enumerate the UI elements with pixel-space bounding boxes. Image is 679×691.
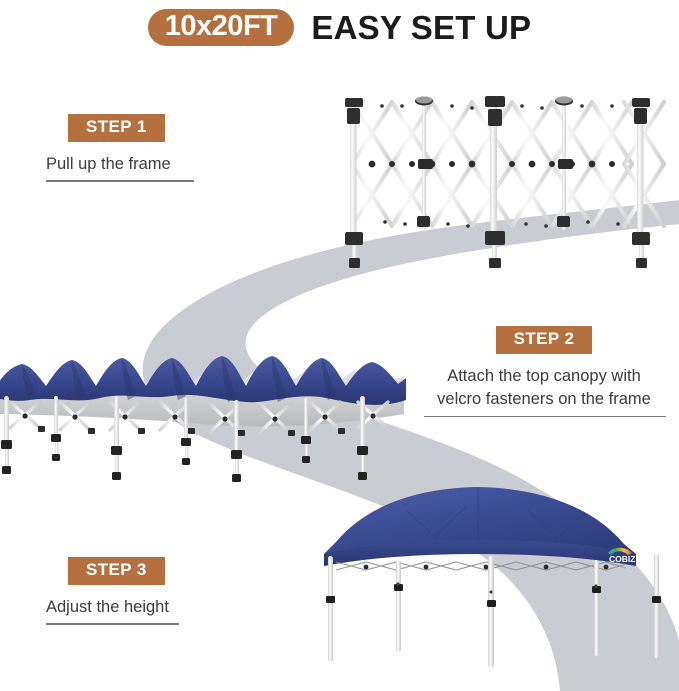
page-title: EASY SET UP bbox=[311, 11, 531, 44]
step-3-badge: STEP 3 bbox=[68, 557, 165, 585]
step-2-badge: STEP 2 bbox=[496, 326, 593, 354]
canopy-partially-assembled-illustration bbox=[0, 352, 408, 482]
step-2-description: Attach the top canopy with velcro fasten… bbox=[420, 365, 668, 412]
step-1-underline bbox=[46, 180, 194, 182]
setup-instructions-page: 10x20FT EASY SET UP STEP 1 Pull up the f… bbox=[0, 0, 679, 691]
page-header: 10x20FT EASY SET UP bbox=[0, 4, 679, 50]
step-3-description: Adjust the height bbox=[46, 596, 179, 619]
step-2-underline bbox=[424, 416, 666, 418]
brand-logo: COBIZI bbox=[608, 548, 638, 564]
folded-frame-illustration bbox=[330, 88, 674, 278]
step-1-badge: STEP 1 bbox=[68, 114, 165, 142]
size-badge: 10x20FT bbox=[148, 9, 295, 46]
step-1-block: STEP 1 Pull up the frame bbox=[46, 114, 194, 182]
step-3-underline bbox=[46, 623, 179, 625]
step-2-block: STEP 2 Attach the top canopy with velcro… bbox=[420, 326, 668, 417]
finished-canopy-illustration: COBIZI bbox=[306, 470, 679, 680]
step-1-description: Pull up the frame bbox=[46, 153, 194, 176]
step-3-block: STEP 3 Adjust the height bbox=[46, 557, 179, 625]
svg-text:COBIZI: COBIZI bbox=[609, 554, 638, 564]
